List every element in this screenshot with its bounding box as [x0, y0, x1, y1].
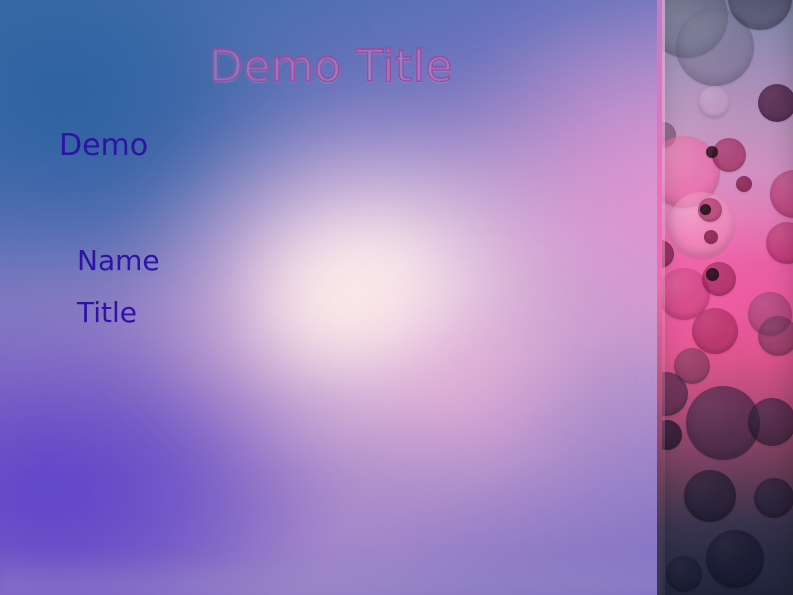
bubble-circle: [754, 478, 793, 518]
panel-separator-line: [657, 0, 662, 595]
bubble-circle: [706, 146, 718, 158]
bubble-circle: [704, 230, 718, 244]
bubble-circle: [700, 204, 711, 215]
bubble-circle: [736, 176, 752, 192]
bubble-circle: [698, 86, 730, 118]
bubble-circle: [758, 84, 793, 122]
bubble-circle: [748, 398, 793, 446]
bubble-circle: [758, 316, 793, 356]
bubble-circle: [706, 530, 764, 588]
slide-title[interactable]: Demo Title: [0, 45, 662, 89]
panel-inner-highlight: [662, 0, 665, 595]
bubble-circle: [706, 268, 719, 281]
slide-subtitle[interactable]: Demo: [59, 131, 148, 161]
decorative-bubbles-panel: [662, 0, 793, 595]
bubble-circle: [662, 420, 682, 450]
author-name[interactable]: Name: [77, 247, 160, 275]
bubble-circle: [766, 222, 793, 264]
bubble-circle: [770, 170, 793, 218]
author-title[interactable]: Title: [77, 299, 137, 327]
bubble-circle: [666, 556, 702, 592]
background-pink-lower: [317, 286, 634, 548]
bubble-circle: [692, 308, 738, 354]
bubble-circle: [684, 470, 736, 522]
presentation-slide: Demo Title Demo Name Title: [0, 0, 793, 595]
